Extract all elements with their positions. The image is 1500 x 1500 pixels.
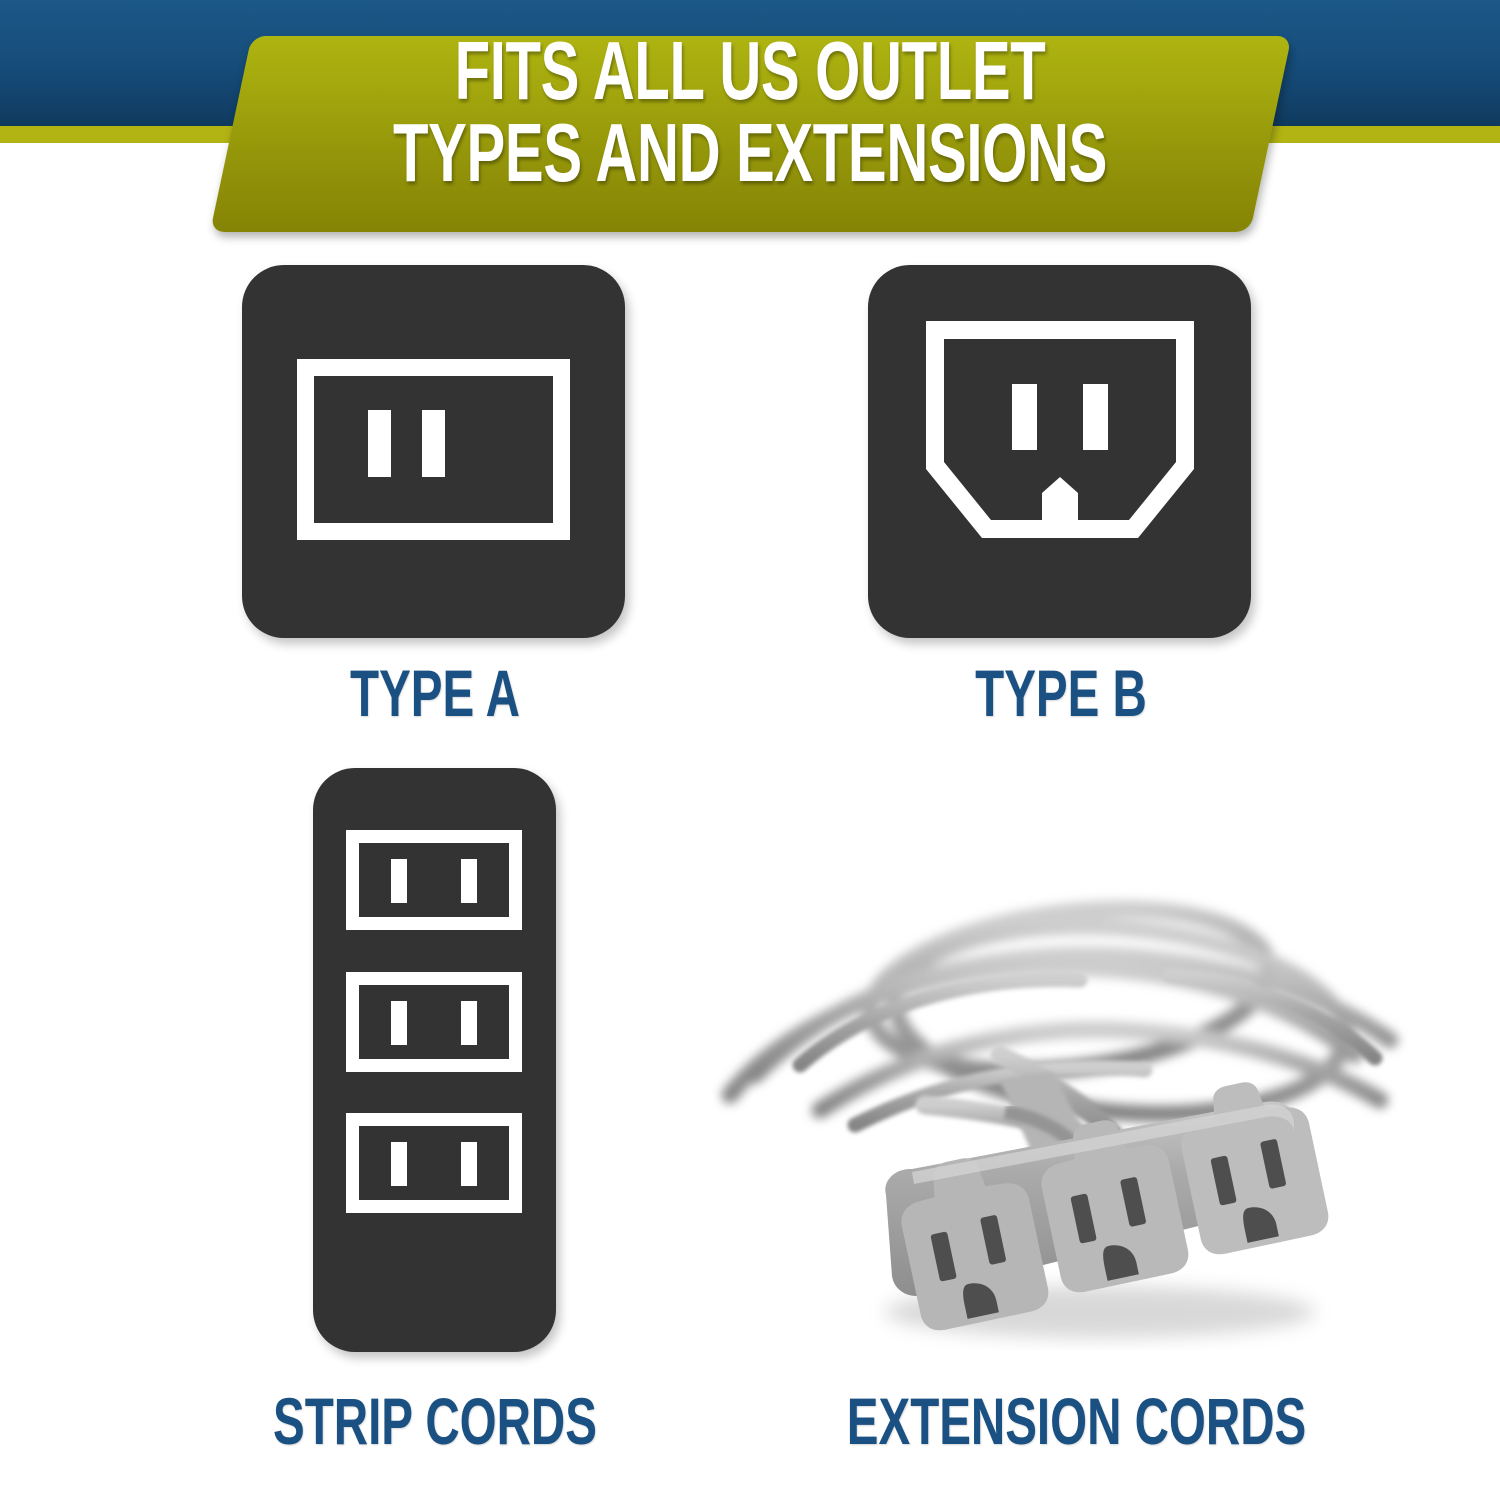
caption-strip-cords: STRIP CORDS [266,1388,604,1454]
ribbon-shape [210,36,1292,232]
outlet-slot-left [368,410,391,477]
strip-slot-right [461,1001,477,1045]
outlet-shield-shape [926,321,1194,582]
caption-type-b: TYPE B [921,660,1202,726]
strip-slot-left [391,1142,407,1186]
outlet-type-b-icon [868,265,1251,638]
strip-slot-right [461,1142,477,1186]
caption-type-a: TYPE A [295,660,576,726]
strip-outlet-3 [346,1113,522,1213]
header-ribbon: FITS ALL US OUTLET TYPES AND EXTENSIONS [0,0,1500,250]
strip-slot-left [391,1001,407,1045]
strip-slot-right [461,859,477,903]
outlet-slot-right [422,410,445,477]
power-strip-icon [313,768,556,1352]
strip-slot-left [391,859,407,903]
caption-extension-cords: EXTENSION CORDS [847,1388,1293,1454]
extension-cord-photo [700,880,1430,1350]
strip-outlet-1 [346,830,522,930]
outlet-type-a-icon [242,265,625,638]
strip-outlet-2 [346,972,522,1072]
